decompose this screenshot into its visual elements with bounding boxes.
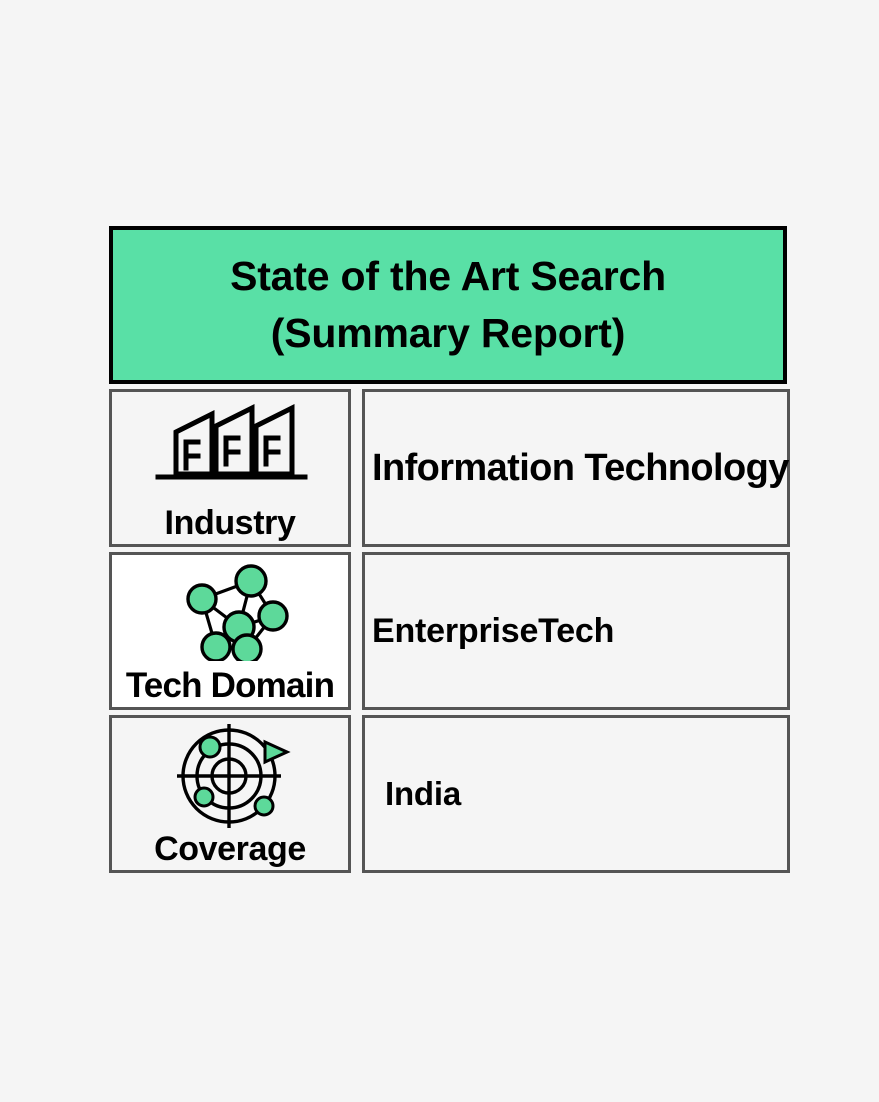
coverage-radar-icon (112, 724, 348, 829)
coverage-value-cell: India (362, 715, 790, 873)
coverage-value: India (365, 775, 461, 813)
table-row: Tech Domain EnterpriseTech (109, 552, 790, 710)
summary-report-card: State of the Art Search (Summary Report) (109, 226, 790, 873)
tech-domain-value-cell: EnterpriseTech (362, 552, 790, 710)
page-title: State of the Art Search (Summary Report) (230, 248, 666, 361)
industry-value-cell: Information Technology (362, 389, 790, 547)
tech-domain-value: EnterpriseTech (365, 612, 614, 651)
table-row: Industry Information Technology (109, 389, 790, 547)
industry-value: Information Technology (365, 447, 789, 490)
industry-label: Industry (112, 506, 348, 542)
industry-buildings-icon (112, 398, 348, 488)
industry-icon-cell: Industry (109, 389, 351, 547)
tech-domain-label: Tech Domain (112, 668, 348, 705)
coverage-label: Coverage (112, 832, 348, 868)
table-row: Coverage India (109, 715, 790, 873)
tech-domain-network-icon (112, 561, 348, 661)
report-title-banner: State of the Art Search (Summary Report) (109, 226, 787, 384)
tech-domain-icon-cell: Tech Domain (109, 552, 351, 710)
coverage-icon-cell: Coverage (109, 715, 351, 873)
